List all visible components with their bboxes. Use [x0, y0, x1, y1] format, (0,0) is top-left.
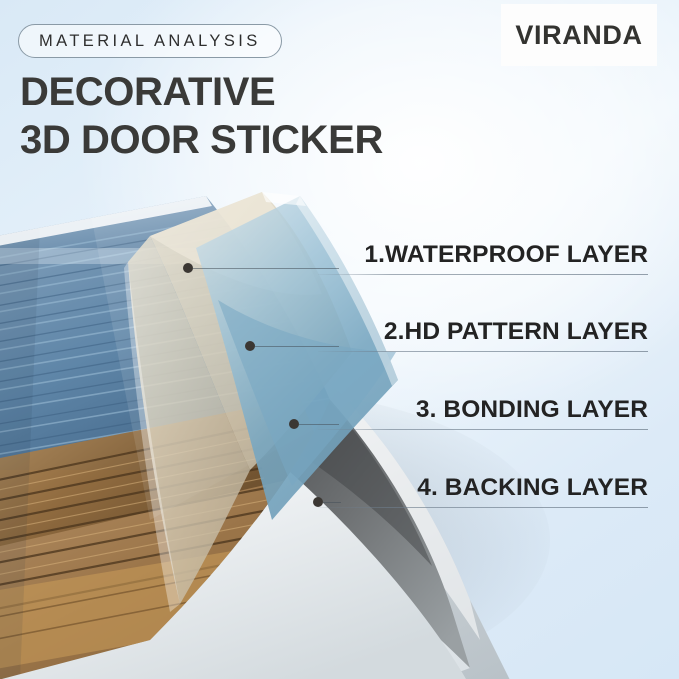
callout-bonding: 3. BONDING LAYER: [318, 396, 648, 430]
leader-dot-bonding: [289, 419, 299, 429]
callout-label-waterproof: 1.WATERPROOF LAYER: [318, 241, 648, 274]
page-title: DECORATIVE 3D DOOR STICKER: [20, 69, 500, 164]
brand-logo: VIRANDA: [501, 4, 657, 66]
callout-backing: 4. BACKING LAYER: [318, 474, 648, 508]
callout-label-bonding: 3. BONDING LAYER: [318, 396, 648, 429]
page-title-line-1: DECORATIVE: [20, 69, 500, 117]
infographic-canvas: 1.WATERPROOF LAYER 2.HD PATTERN LAYER 3.…: [0, 0, 679, 679]
callout-rule-backing: [318, 507, 648, 508]
leader-dot-waterproof: [183, 263, 193, 273]
material-analysis-badge: MATERIAL ANALYSIS: [18, 24, 282, 58]
callout-rule-waterproof: [318, 274, 648, 275]
callout-waterproof: 1.WATERPROOF LAYER: [318, 241, 648, 275]
page-title-line-2: 3D DOOR STICKER: [20, 117, 500, 165]
callout-rule-bonding: [318, 429, 648, 430]
leader-dot-hd-pattern: [245, 341, 255, 351]
brand-logo-label: VIRANDA: [515, 20, 642, 51]
callout-hd-pattern: 2.HD PATTERN LAYER: [318, 318, 648, 352]
callout-label-hd-pattern: 2.HD PATTERN LAYER: [318, 318, 648, 351]
callout-label-backing: 4. BACKING LAYER: [318, 474, 648, 507]
callout-rule-hd-pattern: [318, 351, 648, 352]
material-analysis-badge-label: MATERIAL ANALYSIS: [39, 32, 261, 51]
